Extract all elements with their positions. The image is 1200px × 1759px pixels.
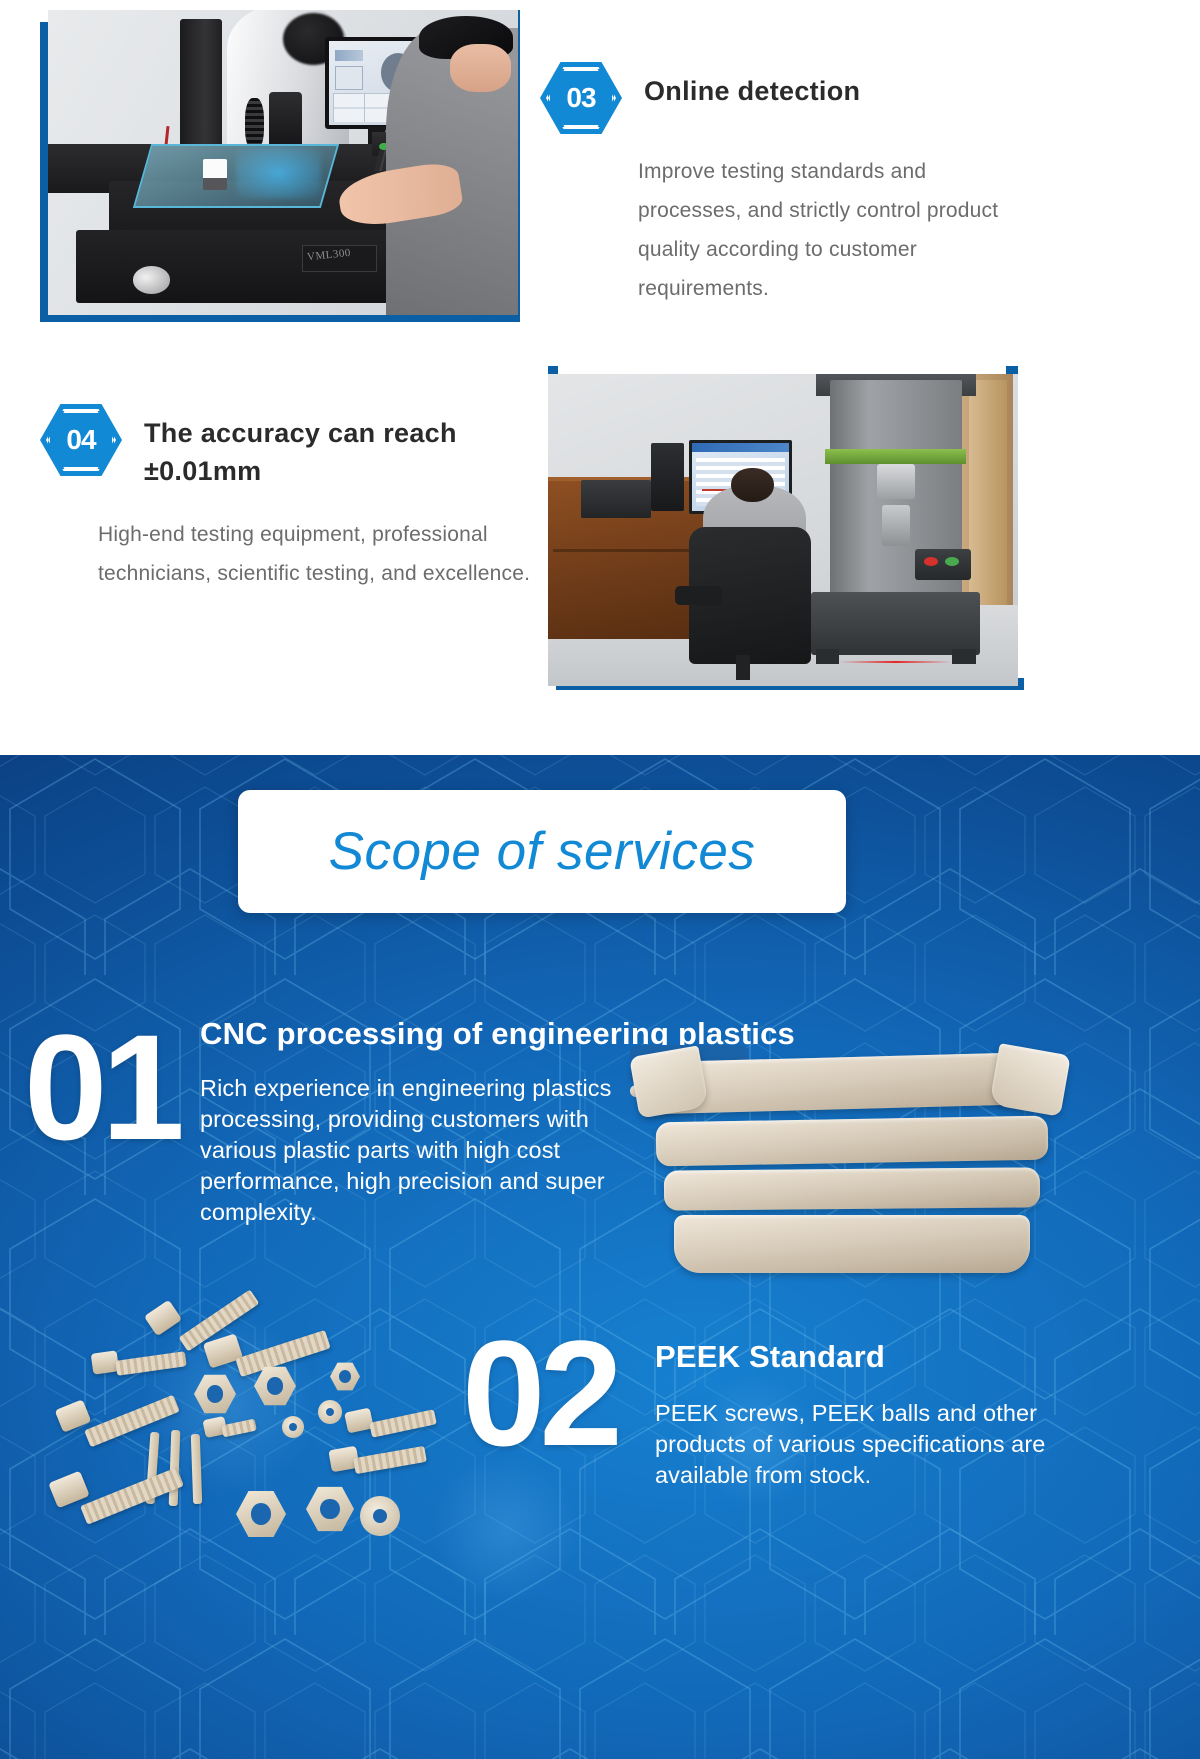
feature-block-03: 03 Online detection Improve testing stan…	[540, 62, 1040, 308]
service-02-title: PEEK Standard	[655, 1339, 1075, 1375]
marketing-page: VML300 03 Online detection	[0, 0, 1200, 1759]
feature-04-title: The accuracy can reach ±0.01mm	[144, 404, 540, 491]
scope-title-card: Scope of services	[238, 790, 846, 913]
service-01-body: Rich experience in engineering plastics …	[200, 1073, 640, 1228]
photo-optical-measuring-machine: VML300	[48, 10, 518, 315]
service-02-number: 02	[462, 1332, 617, 1455]
feature-04-number: 04	[40, 404, 122, 476]
service-01-number: 01	[24, 1026, 179, 1149]
photo-tensile-testing-machine	[548, 374, 1018, 686]
feature-04-body: High-end testing equipment, professional…	[98, 515, 538, 593]
photo-peek-machined-part	[630, 1045, 1070, 1290]
features-section: VML300 03 Online detection	[0, 0, 1200, 755]
hexagon-badge-icon: 03	[540, 62, 622, 134]
feature-03-header: 03 Online detection	[540, 62, 1040, 134]
feature-04-header: 04 The accuracy can reach ±0.01mm	[40, 404, 540, 491]
hexagon-badge-icon: 04	[40, 404, 122, 476]
photo-peek-screws-and-nuts	[30, 1300, 460, 1590]
service-02-body: PEEK screws, PEEK balls and other produc…	[655, 1398, 1065, 1491]
feature-03-title: Online detection	[644, 62, 860, 110]
feature-03-number: 03	[540, 62, 622, 134]
feature-03-body: Improve testing standards and processes,…	[638, 152, 1028, 308]
scope-title: Scope of services	[329, 821, 756, 882]
feature-block-04: 04 The accuracy can reach ±0.01mm High-e…	[40, 404, 540, 593]
